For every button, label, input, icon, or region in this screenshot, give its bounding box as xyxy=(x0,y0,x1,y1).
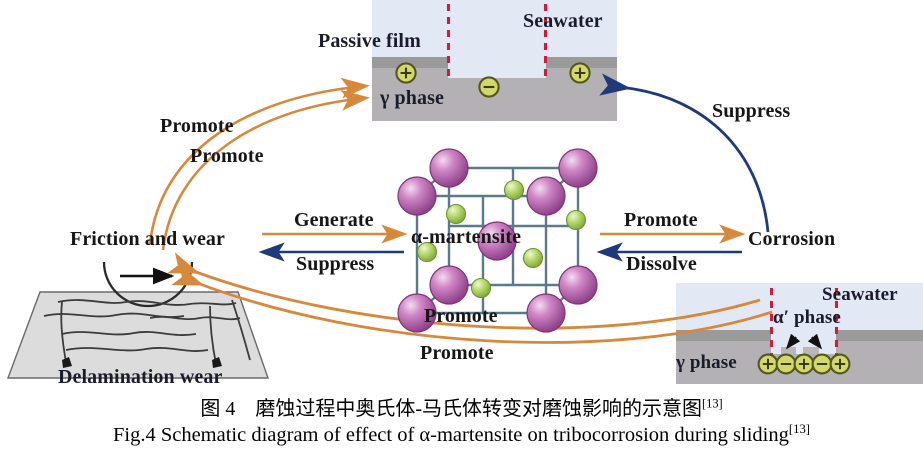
label-promote-up-2: Promote xyxy=(190,145,264,168)
diagram-canvas xyxy=(0,0,923,390)
label-bottom-seawater: Seawater xyxy=(822,284,898,306)
node-alpha-martensite: α-martensite xyxy=(411,226,521,249)
bottom-debris-block-1 xyxy=(781,347,796,354)
bottom-charge-3 xyxy=(795,355,814,374)
label-passive-film: Passive film xyxy=(318,30,421,53)
caption-english-text: Fig.4 Schematic diagram of effect of α-m… xyxy=(113,424,789,446)
node-delamination-wear: Delamination wear xyxy=(58,366,222,389)
label-suppress: Suppress xyxy=(296,253,374,276)
label-promote-right: Promote xyxy=(624,209,698,232)
node-corrosion: Corrosion xyxy=(748,228,835,251)
node-friction-and-wear: Friction and wear xyxy=(70,228,225,251)
label-bottom-gamma-phase: γ phase xyxy=(676,352,737,374)
caption-chinese: 图 4 磨蚀过程中奥氏体-马氏体转变对磨蚀影响的示意图[13] xyxy=(0,392,923,421)
label-top-gamma-phase: γ phase xyxy=(380,87,444,110)
caption-chinese-text: 图 4 磨蚀过程中奥氏体-马氏体转变对磨蚀影响的示意图 xyxy=(200,398,702,420)
bottom-charge-5 xyxy=(831,355,850,374)
bottom-charge-2 xyxy=(777,355,796,374)
label-promote-bottom-2: Promote xyxy=(420,342,494,365)
label-alpha-prime-phase: α′ phase xyxy=(773,307,841,329)
top-charge-positive-right xyxy=(570,63,589,82)
label-dissolve: Dissolve xyxy=(626,253,697,276)
caption-english-ref: [13] xyxy=(789,422,810,436)
caption-chinese-ref: [13] xyxy=(702,396,723,410)
top-notch xyxy=(448,57,546,78)
top-charge-positive-left xyxy=(396,63,415,82)
bottom-charge-row xyxy=(759,355,850,374)
top-charge-negative-middle xyxy=(479,77,498,96)
bottom-charge-4 xyxy=(813,355,832,374)
label-promote-bottom-1: Promote xyxy=(424,305,498,328)
delamination-wear-illustration xyxy=(8,262,268,378)
figure-diagram: Passive film Seawater γ phase Seawater α… xyxy=(0,0,923,390)
label-top-seawater: Seawater xyxy=(523,10,603,33)
bottom-debris-block-2 xyxy=(803,347,819,354)
label-promote-up-1: Promote xyxy=(160,115,234,138)
bottom-charge-1 xyxy=(759,355,778,374)
caption-english: Fig.4 Schematic diagram of effect of α-m… xyxy=(0,422,923,447)
label-generate: Generate xyxy=(294,209,374,232)
label-suppress-curve: Suppress xyxy=(712,100,790,123)
